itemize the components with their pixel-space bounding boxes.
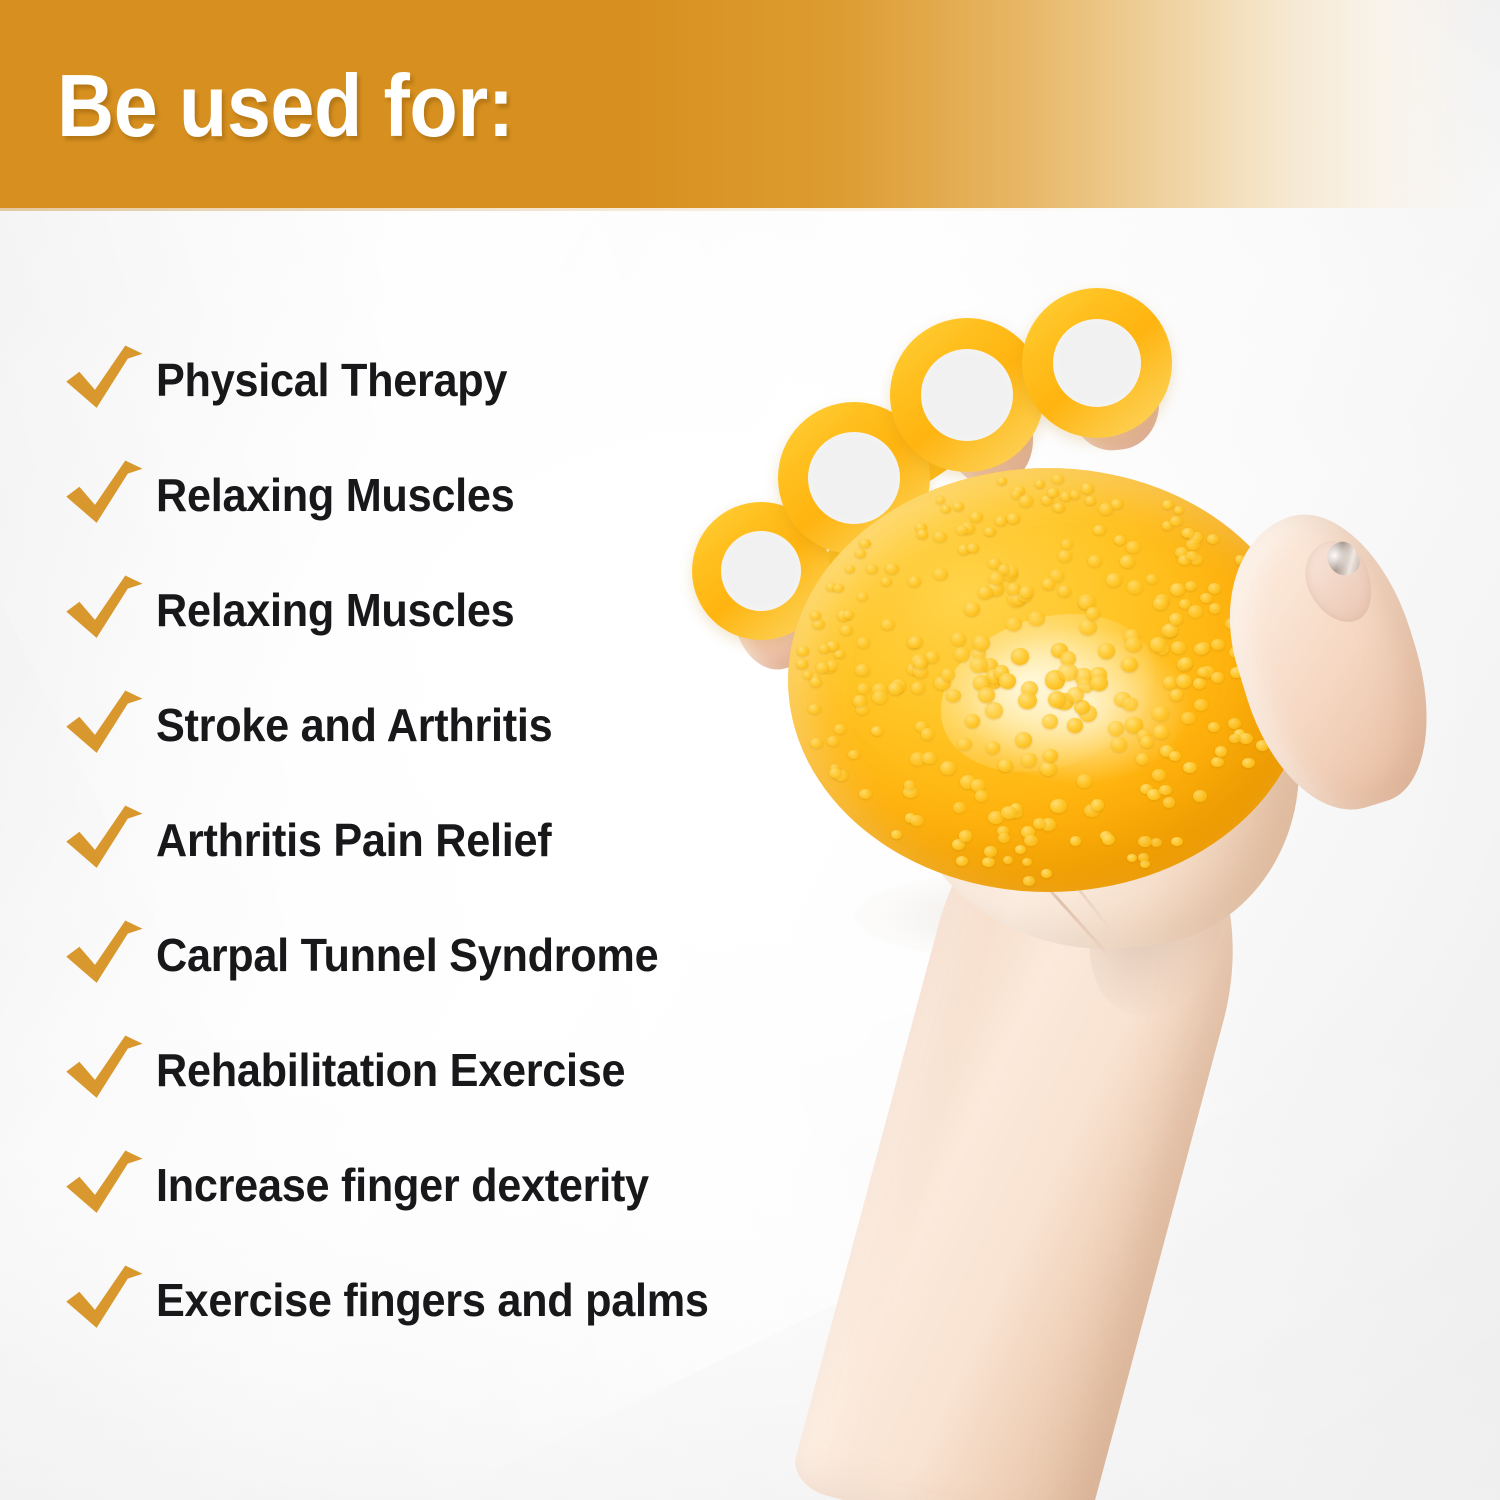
- list-item: Carpal Tunnel Syndrome: [0, 897, 900, 1012]
- list-item: Exercise fingers and palms: [0, 1242, 900, 1357]
- page-title: Be used for:: [57, 62, 514, 150]
- list-item: Rehabilitation Exercise: [0, 1012, 900, 1127]
- list-item-label: Exercise fingers and palms: [156, 1277, 709, 1323]
- list-item: Arthritis Pain Relief: [0, 782, 900, 897]
- check-icon: [58, 449, 150, 541]
- check-icon: [58, 679, 150, 771]
- check-icon: [58, 334, 150, 426]
- check-icon: [58, 564, 150, 656]
- list-item-label: Increase finger dexterity: [156, 1162, 649, 1208]
- check-icon: [58, 1254, 150, 1346]
- check-icon: [58, 909, 150, 1001]
- list-item: Increase finger dexterity: [0, 1127, 900, 1242]
- list-item-label: Carpal Tunnel Syndrome: [156, 932, 658, 978]
- infographic-page: Be used for: Physical Therapy Relaxing M…: [0, 0, 1500, 1500]
- list-item-label: Relaxing Muscles: [156, 472, 514, 518]
- list-item-label: Rehabilitation Exercise: [156, 1047, 625, 1093]
- list-item-label: Arthritis Pain Relief: [156, 817, 551, 863]
- list-item-label: Stroke and Arthritis: [156, 702, 552, 748]
- list-item-label: Physical Therapy: [156, 357, 507, 403]
- list-item: Physical Therapy: [0, 322, 900, 437]
- check-icon: [58, 794, 150, 886]
- benefits-list: Physical Therapy Relaxing Muscles Relaxi…: [0, 322, 900, 1357]
- list-item-label: Relaxing Muscles: [156, 587, 514, 633]
- list-item: Stroke and Arthritis: [0, 667, 900, 782]
- header-banner: Be used for:: [0, 0, 1500, 208]
- check-icon: [58, 1139, 150, 1231]
- list-item: Relaxing Muscles: [0, 437, 900, 552]
- check-icon: [58, 1024, 150, 1116]
- list-item: Relaxing Muscles: [0, 552, 900, 667]
